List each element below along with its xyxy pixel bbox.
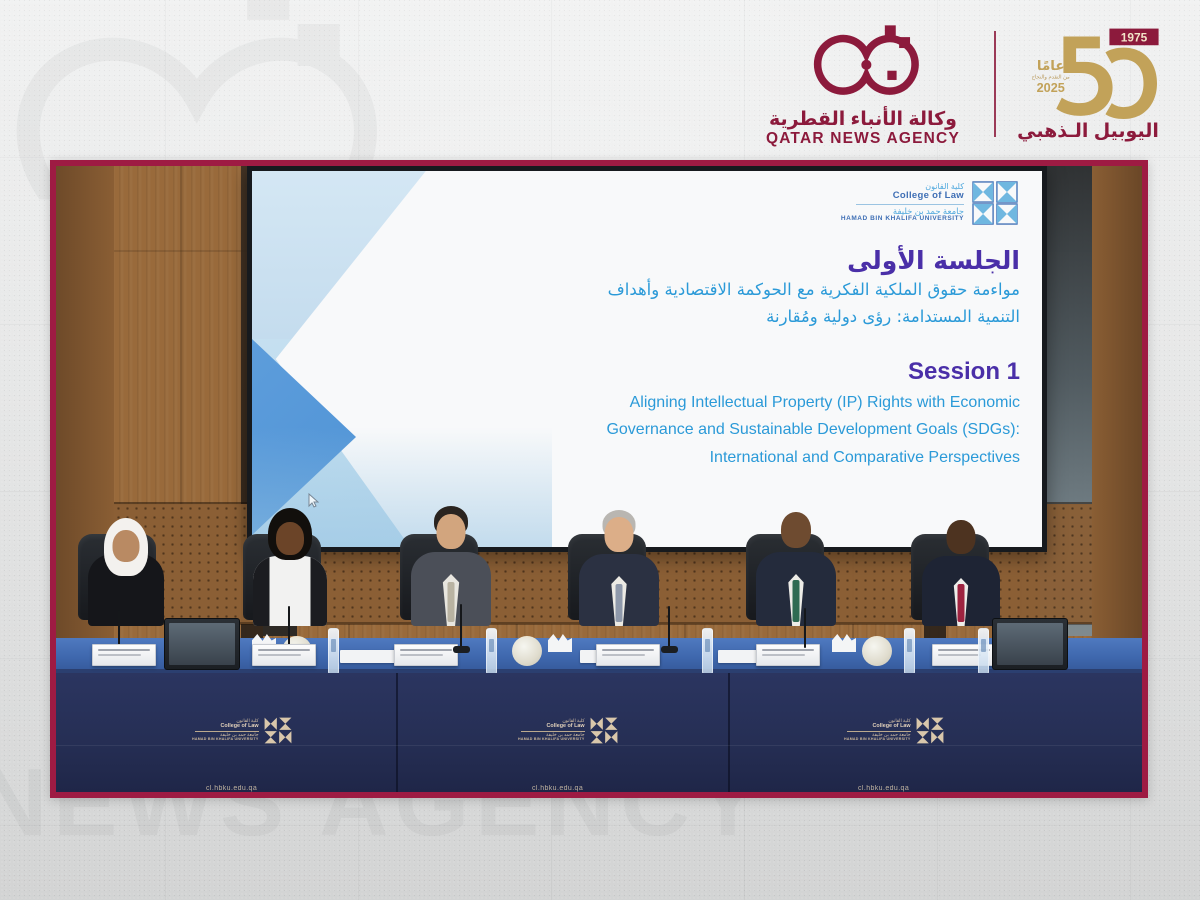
- jubilee-logo-block: 1975 عامًا من التقدم والنجاح 2025 اليوبي…: [1012, 27, 1164, 141]
- table-skirt-hbku-logo: كلية القانون College of Law جامعة حمد بن…: [192, 717, 292, 744]
- panelist-head: [947, 520, 976, 554]
- panelist: [919, 512, 1003, 626]
- water-bottle: [486, 628, 497, 674]
- table-skirt-seam: [728, 673, 730, 792]
- jubilee-name-arabic: اليوبيل الـذهبي: [1017, 122, 1159, 141]
- microphone-base: [661, 646, 678, 653]
- svg-text:من التقدم والنجاح: من التقدم والنجاح: [1032, 75, 1070, 81]
- panelist: [753, 504, 839, 626]
- nameplate: [756, 644, 820, 666]
- slide-logo-text: كلية القانون College of Law جامعة حمد بن…: [841, 183, 964, 223]
- panelist: [408, 504, 494, 626]
- water-bottle: [328, 628, 339, 674]
- mouse-pointer-icon: [308, 493, 319, 508]
- panelist-head: [781, 512, 811, 548]
- qna-atom-logo-icon: [804, 22, 922, 106]
- table-skirt-university-english: HAMAD BIN KHALIFA UNIVERSITY: [518, 738, 585, 742]
- slide-hbku-logo: كلية القانون College of Law جامعة حمد بن…: [841, 181, 1018, 225]
- svg-text:2025: 2025: [1037, 81, 1065, 95]
- panelist-vest: [253, 556, 327, 626]
- press-photograph: كلية القانون College of Law جامعة حمد بن…: [56, 166, 1142, 792]
- presentation-slide: كلية القانون College of Law جامعة حمد بن…: [252, 171, 1042, 547]
- slide-university-english: HAMAD BIN KHALIFA UNIVERSITY: [841, 216, 964, 223]
- table-skirt-college-english: College of Law: [547, 724, 585, 730]
- table-skirt-college-english: College of Law: [873, 724, 911, 730]
- microphone-stem: [460, 604, 462, 648]
- panelist-head: [113, 530, 140, 562]
- microphone-base: [453, 646, 470, 653]
- photo-frame: كلية القانون College of Law جامعة حمد بن…: [50, 160, 1148, 798]
- table-skirt-hbku-logo: كلية القانون College of Law جامعة حمد بن…: [518, 717, 618, 744]
- table-skirt-university-english: HAMAD BIN KHALIFA UNIVERSITY: [192, 738, 259, 742]
- slide-english-subtitle-3: International and Comparative Perspectiv…: [490, 446, 1020, 470]
- panelist: [576, 508, 662, 626]
- qna-name-english: QATAR NEWS AGENCY: [766, 131, 960, 147]
- slide-english-title: Session 1: [490, 358, 1020, 387]
- table-skirt-college-english: College of Law: [221, 724, 259, 730]
- slide-english-subtitle-1: Aligning Intellectual Property (IP) Righ…: [490, 391, 1020, 415]
- slide-arabic-subtitle-1: مواءمة حقوق الملكية الفكرية مع الحوكمة ا…: [490, 278, 1020, 303]
- table-skirt-logo-text: كلية القانون College of Law جامعة حمد بن…: [192, 719, 259, 742]
- panelist-tie: [616, 584, 623, 622]
- svg-text:عامًا: عامًا: [1037, 58, 1065, 74]
- table-skirt-hbku-logo: كلية القانون College of Law جامعة حمد بن…: [844, 717, 944, 744]
- hbku-diamond-mark-icon: [264, 717, 292, 744]
- table-skirt: كلية القانون College of Law جامعة حمد بن…: [56, 673, 1142, 792]
- flower-arrangement: [512, 636, 542, 666]
- slide-arabic-title: الجلسة الأولى: [490, 245, 1020, 276]
- slide-arabic-subtitle-2: التنمية المستدامة: رؤى دولية ومُقارنة: [490, 305, 1020, 330]
- table-skirt-university-english: HAMAD BIN KHALIFA UNIVERSITY: [844, 738, 911, 742]
- golden-jubilee-50-icon: 1975 عامًا من التقدم والنجاح 2025: [1012, 27, 1164, 119]
- table-skirt-url: cl.hbku.edu.qa: [532, 785, 583, 792]
- table-skirt-logo-text: كلية القانون College of Law جامعة حمد بن…: [844, 719, 911, 742]
- qna-logo-block: وكالة الأنباء القطرية QATAR NEWS AGENCY: [766, 22, 978, 147]
- slide-college-english: College of Law: [893, 191, 964, 201]
- vertical-divider-icon: [994, 31, 996, 137]
- hbku-diamond-mark-icon: [916, 717, 944, 744]
- brand-lockup: وكالة الأنباء القطرية QATAR NEWS AGENCY …: [766, 22, 1164, 147]
- microphone-stem: [118, 610, 120, 648]
- panelist-head: [437, 514, 466, 549]
- slide-text-block: الجلسة الأولى مواءمة حقوق الملكية الفكري…: [490, 245, 1020, 470]
- slide-logo-divider: [856, 204, 964, 205]
- water-bottle: [702, 628, 713, 674]
- brand-header: وكالة الأنباء القطرية QATAR NEWS AGENCY …: [0, 0, 1200, 160]
- nameplate: [394, 644, 458, 666]
- flower-arrangement: [862, 636, 892, 666]
- page-background: NEWS AGENCY وكالة الأنباء القطرية QATAR …: [0, 0, 1200, 900]
- svg-text:1975: 1975: [1121, 31, 1148, 45]
- nameplate: [92, 644, 156, 666]
- panelist-head: [605, 517, 634, 552]
- table-skirt-url: cl.hbku.edu.qa: [206, 785, 257, 792]
- panelist-tie: [448, 582, 455, 622]
- hbku-diamond-mark-icon: [972, 181, 1018, 225]
- microphone-stem: [288, 606, 290, 648]
- microphone-stem: [668, 606, 670, 648]
- nameplate: [596, 644, 660, 666]
- water-bottle: [904, 628, 915, 674]
- projection-screen: كلية القانون College of Law جامعة حمد بن…: [247, 166, 1047, 552]
- panelist: [249, 508, 331, 626]
- panelist-tie: [958, 584, 965, 622]
- panelist-head: [276, 522, 304, 555]
- hbku-diamond-mark-icon: [590, 717, 618, 744]
- panelist: [86, 514, 166, 626]
- qna-name-arabic: وكالة الأنباء القطرية: [769, 110, 957, 129]
- laptop: [992, 618, 1068, 670]
- microphone-stem: [804, 608, 806, 648]
- slide-english-subtitle-2: Governance and Sustainable Development G…: [490, 418, 1020, 442]
- table-skirt-fold: [56, 745, 1142, 746]
- table-skirt-logo-text: كلية القانون College of Law جامعة حمد بن…: [518, 719, 585, 742]
- table-skirt-url: cl.hbku.edu.qa: [858, 785, 909, 792]
- nameplate: [252, 644, 316, 666]
- laptop: [164, 618, 240, 670]
- panelist-tie: [793, 580, 800, 622]
- water-bottle: [978, 628, 989, 674]
- table-skirt-seam: [396, 673, 398, 792]
